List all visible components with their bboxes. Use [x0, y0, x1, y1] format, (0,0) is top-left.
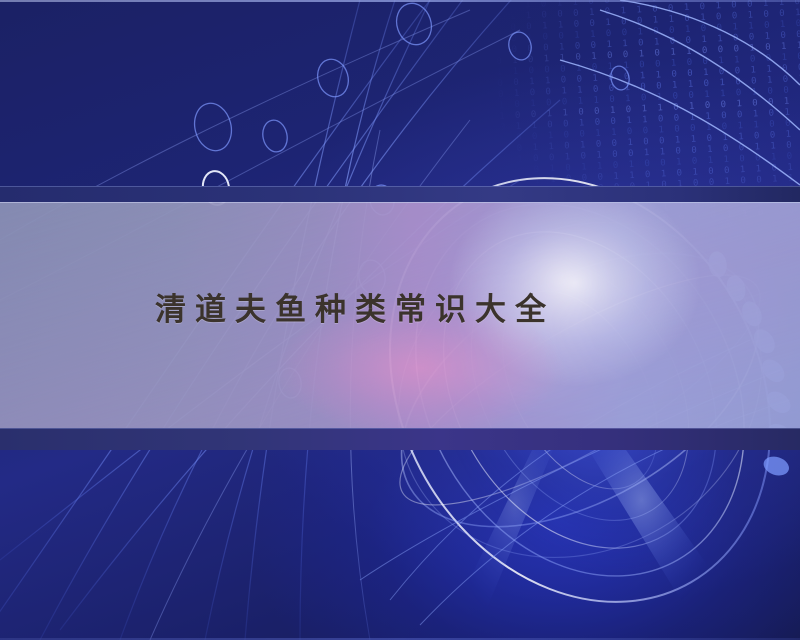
- title-slide: 0 1 0 0 1 0 1 1 0 0 0 1 0 1 1 0 0 1 0 1 …: [0, 0, 800, 640]
- page-title: 清道夫鱼种类常识大全: [155, 295, 555, 326]
- band-bottom-strip: [0, 428, 800, 450]
- band-top-strip: [0, 186, 800, 202]
- network-node-ring: [609, 64, 632, 91]
- network-node-ring: [260, 118, 290, 154]
- top-hairline: [0, 0, 800, 2]
- network-node-ring: [313, 56, 352, 101]
